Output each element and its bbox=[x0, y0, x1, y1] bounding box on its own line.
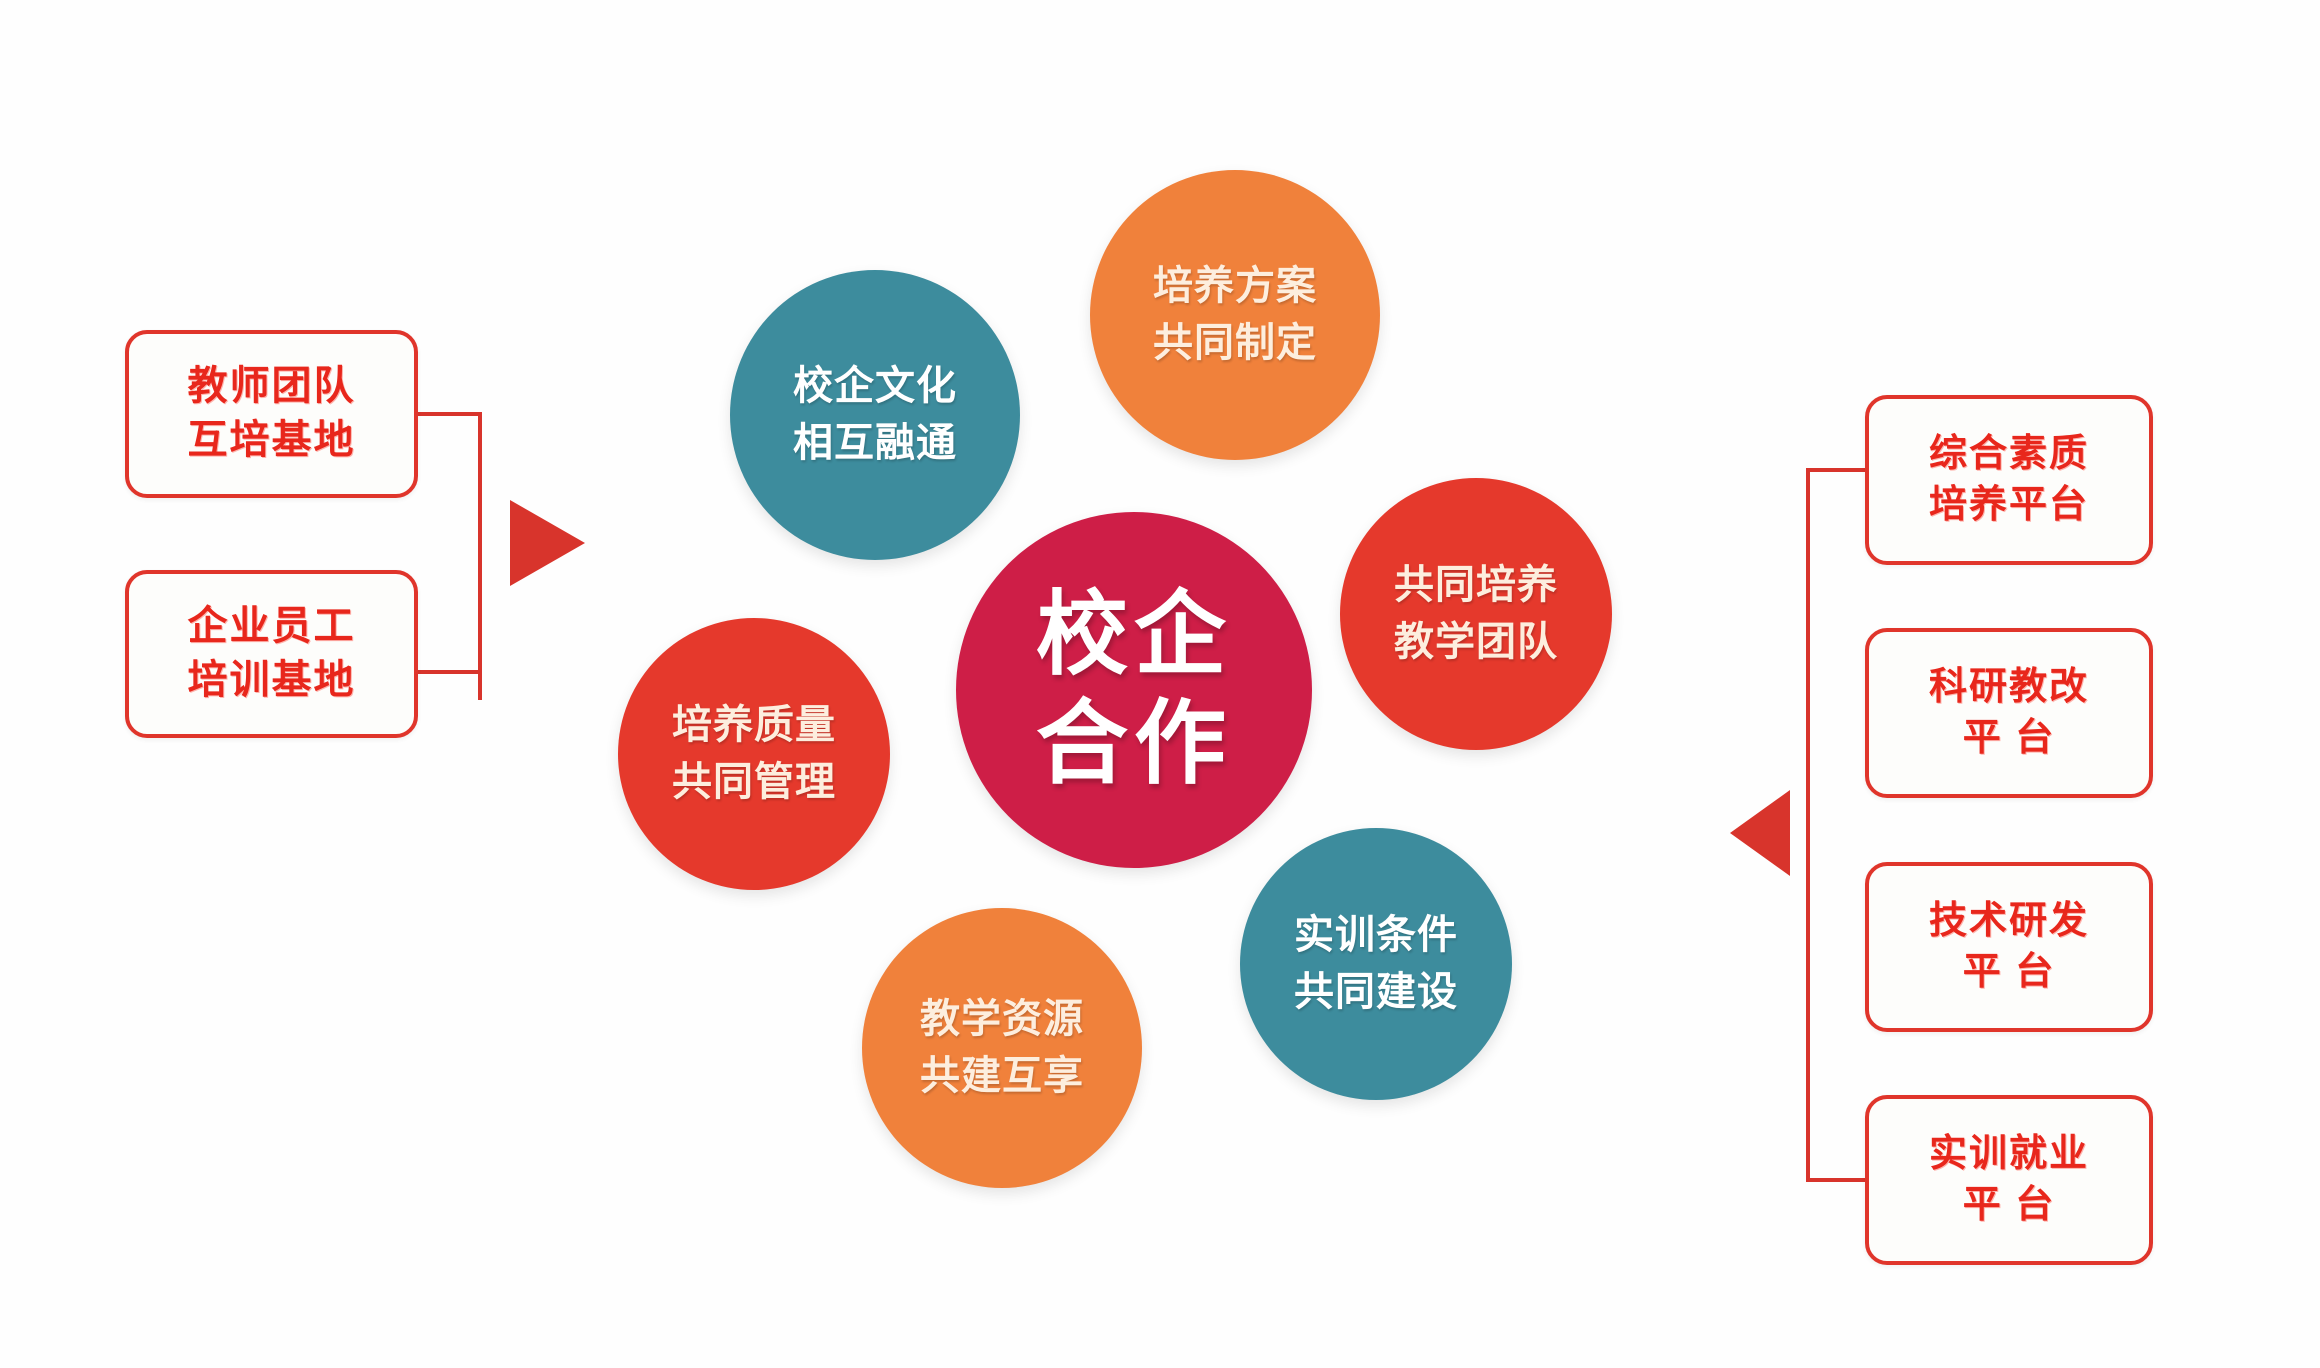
center-line-2: 合作 bbox=[1036, 690, 1232, 799]
circle-line-1: 教学资源 bbox=[920, 991, 1084, 1048]
box-line-1: 综合素质 bbox=[1929, 429, 2089, 480]
box-line-2: 培养平台 bbox=[1929, 480, 2089, 531]
circle-line-1: 培养质量 bbox=[672, 697, 836, 754]
box-line-1: 科研教改 bbox=[1929, 662, 2089, 713]
circle-line-2: 共同管理 bbox=[672, 754, 836, 811]
box-line-2: 平 台 bbox=[1963, 713, 2056, 764]
circle-culture[interactable]: 校企文化 相互融通 bbox=[730, 270, 1020, 560]
circle-quality[interactable]: 培养质量 共同管理 bbox=[618, 618, 890, 890]
circle-line-2: 共同建设 bbox=[1294, 964, 1458, 1021]
left-box-employee-base[interactable]: 企业员工 培训基地 bbox=[125, 570, 418, 738]
box-line-1: 实训就业 bbox=[1929, 1129, 2089, 1180]
right-arrow-icon bbox=[1730, 790, 1790, 876]
circle-line-1: 培养方案 bbox=[1153, 258, 1317, 315]
right-box-employ-platform[interactable]: 实训就业 平 台 bbox=[1865, 1095, 2153, 1265]
circle-center-cooperation[interactable]: 校企 合作 bbox=[956, 512, 1312, 868]
circle-practice[interactable]: 实训条件 共同建设 bbox=[1240, 828, 1512, 1100]
circle-line-1: 校企文化 bbox=[793, 358, 957, 415]
diagram-canvas: 教师团队 互培基地 企业员工 培训基地 综合素质 培养平台 科研教改 平 台 技… bbox=[0, 0, 2320, 1368]
circle-plan[interactable]: 培养方案 共同制定 bbox=[1090, 170, 1380, 460]
right-box-tech-platform[interactable]: 技术研发 平 台 bbox=[1865, 862, 2153, 1032]
box-line-2: 培训基地 bbox=[188, 654, 356, 708]
box-line-1: 技术研发 bbox=[1929, 896, 2089, 947]
left-box-teacher-base[interactable]: 教师团队 互培基地 bbox=[125, 330, 418, 498]
circle-line-2: 相互融通 bbox=[793, 415, 957, 472]
circle-line-2: 共建互享 bbox=[920, 1048, 1084, 1105]
right-box-quality-platform[interactable]: 综合素质 培养平台 bbox=[1865, 395, 2153, 565]
box-line-2: 平 台 bbox=[1963, 947, 2056, 998]
circle-line-2: 教学团队 bbox=[1394, 614, 1558, 671]
circle-line-2: 共同制定 bbox=[1153, 315, 1317, 372]
circle-line-1: 共同培养 bbox=[1394, 557, 1558, 614]
box-line-2: 平 台 bbox=[1963, 1180, 2056, 1231]
box-line-1: 企业员工 bbox=[188, 600, 356, 654]
circle-line-1: 实训条件 bbox=[1294, 907, 1458, 964]
box-line-1: 教师团队 bbox=[188, 360, 356, 414]
center-line-1: 校企 bbox=[1036, 581, 1232, 690]
right-box-research-platform[interactable]: 科研教改 平 台 bbox=[1865, 628, 2153, 798]
left-arrow-icon bbox=[510, 500, 585, 586]
circle-teaching-team[interactable]: 共同培养 教学团队 bbox=[1340, 478, 1612, 750]
box-line-2: 互培基地 bbox=[188, 414, 356, 468]
circle-resource[interactable]: 教学资源 共建互享 bbox=[862, 908, 1142, 1188]
